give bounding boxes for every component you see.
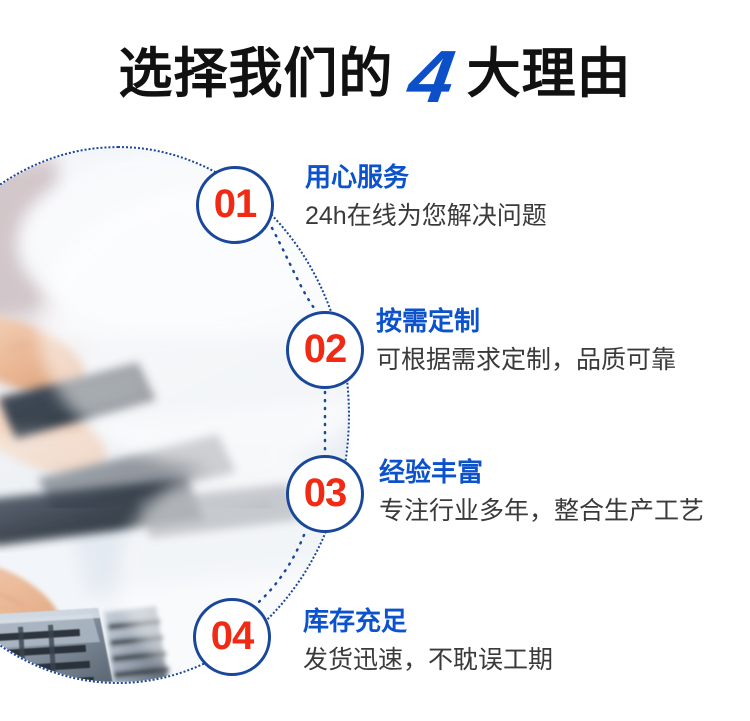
reason-heading: 库存充足 — [303, 607, 553, 637]
badge-02: 02 — [286, 311, 364, 389]
badge-number: 01 — [214, 184, 257, 224]
reason-text-01: 用心服务 24h在线为您解决问题 — [305, 163, 547, 231]
badge-number: 03 — [304, 473, 347, 513]
reason-body: 发货迅速，不耽误工期 — [303, 645, 553, 675]
reason-body: 可根据需求定制，品质可靠 — [376, 345, 676, 375]
reason-body: 专注行业多年，整合生产工艺 — [379, 496, 704, 526]
badge-04: 04 — [193, 598, 271, 676]
reason-text-02: 按需定制 可根据需求定制，品质可靠 — [376, 307, 676, 375]
page-title-number: 4 — [405, 40, 460, 114]
promo-banner: 选择我们的 4 大理由 — [0, 0, 750, 721]
reason-text-04: 库存充足 发货迅速，不耽误工期 — [303, 607, 553, 675]
badge-03: 03 — [286, 455, 364, 533]
reason-heading: 用心服务 — [305, 163, 547, 193]
badge-number: 02 — [304, 329, 347, 369]
page-title-suffix: 大理由 — [467, 47, 632, 101]
reason-heading: 按需定制 — [376, 307, 676, 337]
photo-artwork — [0, 148, 348, 682]
hands-typing-on-keyboard-photo — [0, 148, 348, 682]
reason-heading: 经验丰富 — [379, 458, 704, 488]
reason-body: 24h在线为您解决问题 — [305, 201, 547, 231]
badge-number: 04 — [211, 616, 254, 656]
page-title-prefix: 选择我们的 — [118, 47, 393, 101]
badge-01: 01 — [196, 166, 274, 244]
page-title: 选择我们的 4 大理由 — [0, 34, 750, 114]
reason-text-03: 经验丰富 专注行业多年，整合生产工艺 — [379, 458, 704, 526]
